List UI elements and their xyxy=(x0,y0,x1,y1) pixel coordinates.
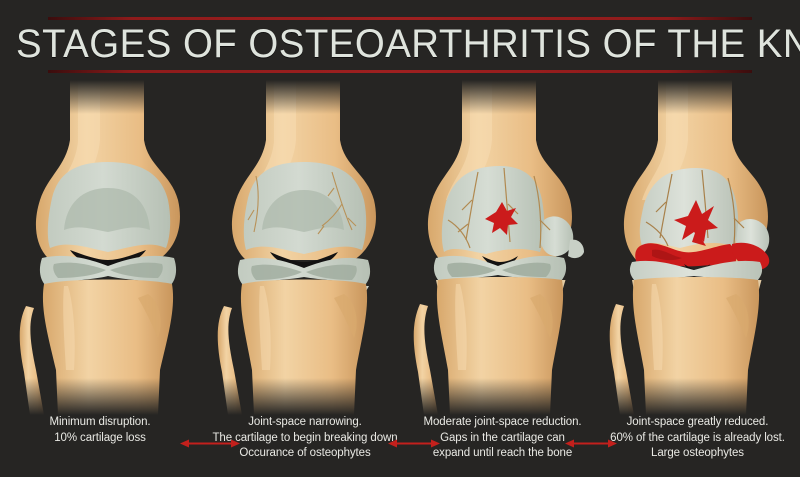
caption-stage-2-line-1: Joint-space narrowing. xyxy=(205,415,405,431)
caption-stage-1-line-1: Minimum disruption. xyxy=(20,415,180,431)
knee-diagram-stage-3 xyxy=(400,80,600,415)
knee-diagram-stage-4 xyxy=(596,80,796,415)
title-rule-bottom xyxy=(48,70,752,73)
femoral-cartilage-stage-1 xyxy=(48,162,170,252)
page-title: STAGES OF OSTEOARTHRITIS OF THE KNEE xyxy=(16,20,784,68)
caption-stage-1-line-2: 10% cartilage loss xyxy=(20,431,180,447)
knee-diagram-stage-1 xyxy=(8,80,208,415)
title-band: STAGES OF OSTEOARTHRITIS OF THE KNEE xyxy=(0,0,800,86)
knee-diagram-stage-2 xyxy=(204,80,404,415)
caption-stage-4-line-3: Large osteophytes xyxy=(600,446,795,462)
caption-stage-3-line-1: Moderate joint-space reduction. xyxy=(410,415,595,431)
caption-stage-3-line-3: expand until reach the bone xyxy=(410,446,595,462)
caption-row: Minimum disruption. 10% cartilage loss J… xyxy=(0,415,800,477)
caption-stage-4-line-1: Joint-space greatly reduced. xyxy=(600,415,795,431)
knee-diagram-row xyxy=(0,80,800,415)
caption-stage-1: Minimum disruption. 10% cartilage loss xyxy=(20,415,180,446)
caption-stage-2: Joint-space narrowing. The cartilage to … xyxy=(205,415,405,462)
femoral-cartilage-stage-2 xyxy=(244,162,366,254)
caption-stage-2-line-2: The cartilage to begin breaking down xyxy=(205,431,405,447)
infographic-root: STAGES OF OSTEOARTHRITIS OF THE KNEE xyxy=(0,0,800,477)
caption-stage-4: Joint-space greatly reduced. 60% of the … xyxy=(600,415,795,462)
caption-stage-4-line-2: 60% of the cartilage is already lost. xyxy=(600,431,795,447)
caption-stage-2-line-3: Occurance of osteophytes xyxy=(205,446,405,462)
